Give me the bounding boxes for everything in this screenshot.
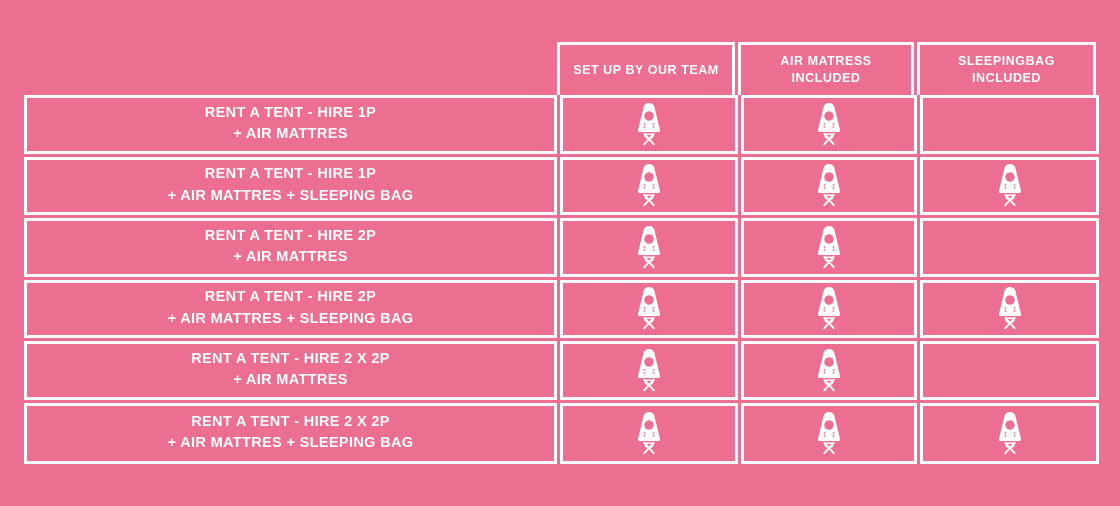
product-label-line2: + AIR MATTRES bbox=[233, 124, 348, 145]
table-row: RENT A TENT - HIRE 2P+ AIR MATTRES + SLE… bbox=[24, 280, 1096, 342]
feature-cell-airmatress bbox=[741, 218, 917, 277]
feature-cell-setup bbox=[560, 218, 738, 277]
feature-cell-sleepingbag bbox=[920, 341, 1099, 400]
product-label-line1: RENT A TENT - HIRE 2P bbox=[205, 287, 376, 308]
tent-campfire-icon bbox=[633, 163, 665, 208]
product-label-cell: RENT A TENT - HIRE 2 X 2P+ AIR MATTRES +… bbox=[24, 403, 557, 465]
header-corner-spacer bbox=[24, 42, 557, 95]
tent-campfire-icon bbox=[633, 286, 665, 331]
feature-cell-setup bbox=[560, 280, 738, 339]
feature-cell-setup bbox=[560, 157, 738, 216]
column-header-setup: SET UP BY OUR TEAM bbox=[557, 42, 735, 95]
product-label-line2: + AIR MATTRES + SLEEPING BAG bbox=[168, 433, 414, 454]
tent-campfire-icon bbox=[813, 286, 845, 331]
column-header-sleepingbag-line2: INCLUDED bbox=[972, 71, 1041, 85]
feature-cell-airmatress bbox=[741, 95, 917, 154]
column-header-airmatress-line1: AIR MATRESS bbox=[780, 54, 871, 68]
column-header-airmatress: AIR MATRESS INCLUDED bbox=[738, 42, 914, 95]
feature-cell-sleepingbag bbox=[920, 218, 1099, 277]
tent-campfire-icon bbox=[813, 102, 845, 147]
feature-cell-airmatress bbox=[741, 157, 917, 216]
product-label-line1: RENT A TENT - HIRE 2 X 2P bbox=[191, 349, 390, 370]
product-label-line1: RENT A TENT - HIRE 2 X 2P bbox=[191, 412, 390, 433]
product-label-cell: RENT A TENT - HIRE 1P+ AIR MATTRES bbox=[24, 95, 557, 154]
tent-campfire-icon bbox=[633, 348, 665, 393]
tent-campfire-icon bbox=[994, 411, 1026, 456]
tent-campfire-icon bbox=[994, 286, 1026, 331]
product-label-line1: RENT A TENT - HIRE 2P bbox=[205, 226, 376, 247]
tent-campfire-icon bbox=[994, 163, 1026, 208]
feature-cell-sleepingbag bbox=[920, 403, 1099, 465]
product-label-cell: RENT A TENT - HIRE 2 X 2P+ AIR MATTRES bbox=[24, 341, 557, 400]
feature-cell-setup bbox=[560, 95, 738, 154]
column-header-sleepingbag: SLEEPINGBAG INCLUDED bbox=[917, 42, 1096, 95]
tent-campfire-icon bbox=[813, 411, 845, 456]
column-header-airmatress-text: AIR MATRESS INCLUDED bbox=[780, 53, 871, 87]
table-header-row: SET UP BY OUR TEAM AIR MATRESS INCLUDED … bbox=[24, 42, 1096, 95]
tent-campfire-icon bbox=[633, 411, 665, 456]
table-body: RENT A TENT - HIRE 1P+ AIR MATTRESRENT A… bbox=[24, 95, 1096, 464]
tent-campfire-icon bbox=[813, 348, 845, 393]
product-label-cell: RENT A TENT - HIRE 2P+ AIR MATTRES + SLE… bbox=[24, 280, 557, 339]
tent-rental-comparison-table: SET UP BY OUR TEAM AIR MATRESS INCLUDED … bbox=[24, 42, 1096, 464]
feature-cell-setup bbox=[560, 341, 738, 400]
table-row: RENT A TENT - HIRE 2 X 2P+ AIR MATTRES bbox=[24, 341, 1096, 403]
column-header-sleepingbag-line1: SLEEPINGBAG bbox=[958, 54, 1055, 68]
tent-campfire-icon bbox=[633, 102, 665, 147]
feature-cell-sleepingbag bbox=[920, 95, 1099, 154]
feature-cell-sleepingbag bbox=[920, 157, 1099, 216]
product-label-line2: + AIR MATTRES bbox=[233, 370, 348, 391]
feature-cell-airmatress bbox=[741, 341, 917, 400]
product-label-line2: + AIR MATTRES bbox=[233, 247, 348, 268]
product-label-cell: RENT A TENT - HIRE 2P+ AIR MATTRES bbox=[24, 218, 557, 277]
table-row: RENT A TENT - HIRE 1P+ AIR MATTRES + SLE… bbox=[24, 157, 1096, 219]
feature-cell-setup bbox=[560, 403, 738, 465]
product-label-line2: + AIR MATTRES + SLEEPING BAG bbox=[168, 186, 414, 207]
column-header-sleepingbag-text: SLEEPINGBAG INCLUDED bbox=[958, 53, 1055, 87]
product-label-line1: RENT A TENT - HIRE 1P bbox=[205, 103, 376, 124]
table-row: RENT A TENT - HIRE 1P+ AIR MATTRES bbox=[24, 95, 1096, 157]
feature-cell-sleepingbag bbox=[920, 280, 1099, 339]
feature-cell-airmatress bbox=[741, 280, 917, 339]
product-label-line2: + AIR MATTRES + SLEEPING BAG bbox=[168, 309, 414, 330]
feature-cell-airmatress bbox=[741, 403, 917, 465]
tent-campfire-icon bbox=[813, 225, 845, 270]
product-label-cell: RENT A TENT - HIRE 1P+ AIR MATTRES + SLE… bbox=[24, 157, 557, 216]
column-header-setup-label: SET UP BY OUR TEAM bbox=[573, 62, 719, 79]
table-row: RENT A TENT - HIRE 2P+ AIR MATTRES bbox=[24, 218, 1096, 280]
tent-campfire-icon bbox=[813, 163, 845, 208]
column-header-airmatress-line2: INCLUDED bbox=[792, 71, 861, 85]
product-label-line1: RENT A TENT - HIRE 1P bbox=[205, 164, 376, 185]
tent-campfire-icon bbox=[633, 225, 665, 270]
table-row: RENT A TENT - HIRE 2 X 2P+ AIR MATTRES +… bbox=[24, 403, 1096, 465]
